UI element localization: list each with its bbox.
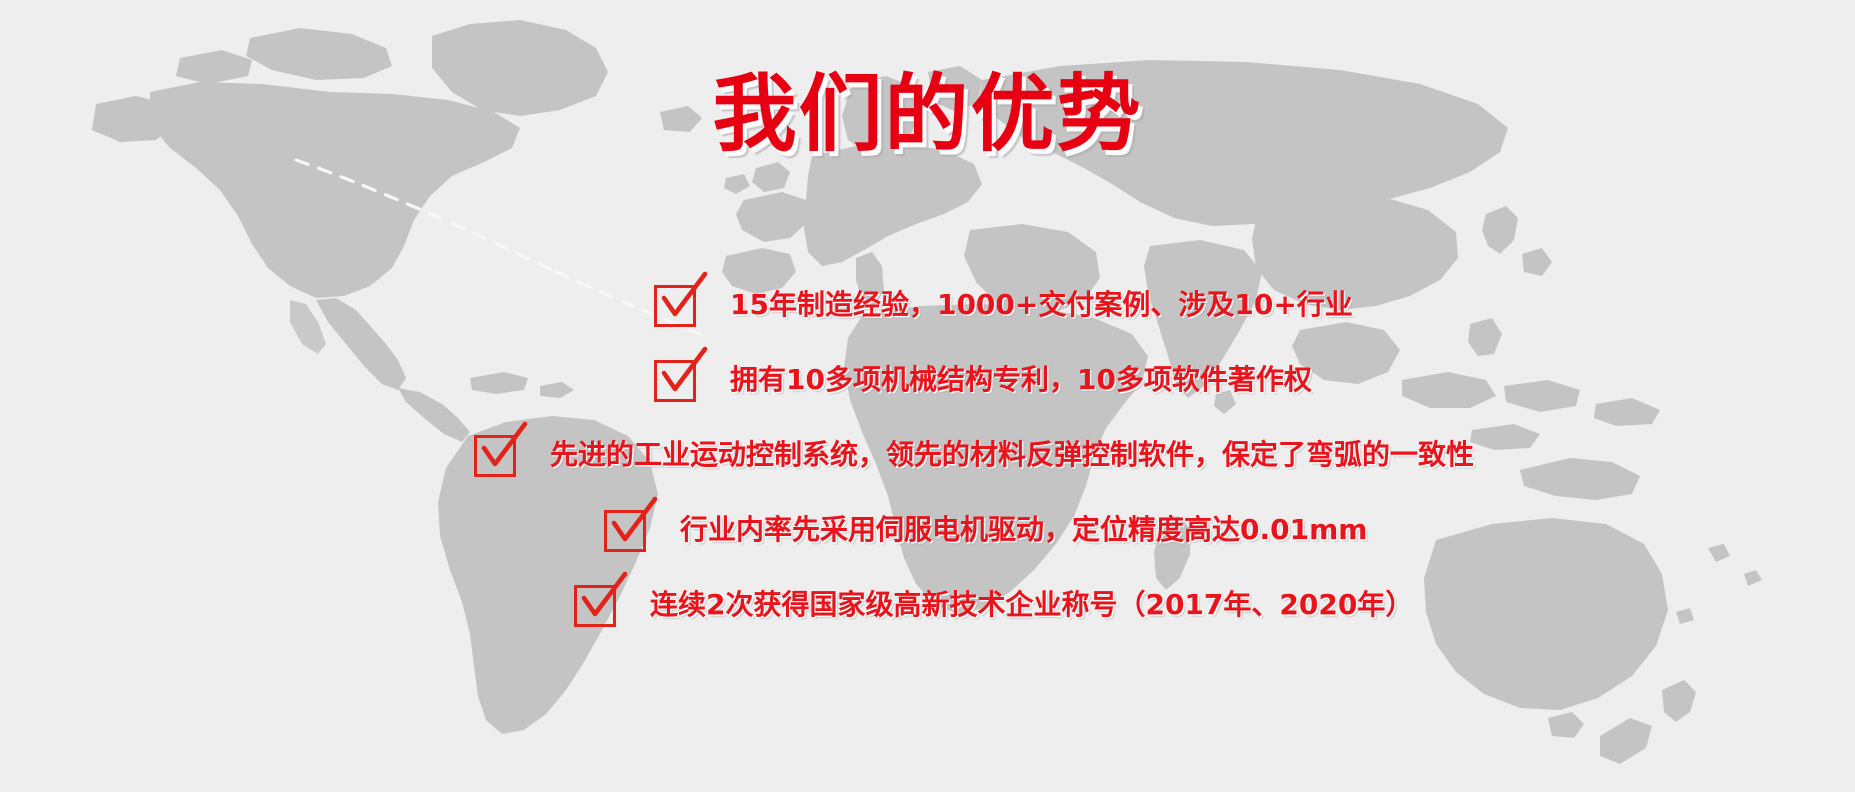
title-container: 我们的优势: [0, 72, 1855, 156]
advantage-text: 拥有10多项机械结构专利，10多项软件著作权: [730, 365, 1312, 396]
checkbox-checked-icon: [604, 510, 646, 552]
banner-content: 我们的优势 15年制造经验，1000+交付案例、涉及10+行业 拥有10多项机械…: [0, 0, 1855, 792]
checkbox-checked-icon: [654, 360, 696, 402]
advantage-text: 连续2次获得国家级高新技术企业称号（2017年、2020年）: [650, 590, 1413, 621]
advantage-text: 行业内率先采用伺服电机驱动，定位精度高达0.01mm: [680, 515, 1367, 546]
list-item: 行业内率先采用伺服电机驱动，定位精度高达0.01mm: [0, 493, 1855, 568]
list-item: 先进的工业运动控制系统，领先的材料反弹控制软件，保定了弯弧的一致性: [0, 418, 1855, 493]
advantages-list: 15年制造经验，1000+交付案例、涉及10+行业 拥有10多项机械结构专利，1…: [0, 268, 1855, 643]
checkbox-checked-icon: [654, 285, 696, 327]
list-item: 连续2次获得国家级高新技术企业称号（2017年、2020年）: [0, 568, 1855, 643]
advantage-text: 15年制造经验，1000+交付案例、涉及10+行业: [730, 290, 1353, 321]
list-item: 拥有10多项机械结构专利，10多项软件著作权: [0, 343, 1855, 418]
advantages-banner: 我们的优势 15年制造经验，1000+交付案例、涉及10+行业 拥有10多项机械…: [0, 0, 1855, 792]
checkbox-checked-icon: [474, 435, 516, 477]
page-title: 我们的优势: [712, 72, 1142, 156]
list-item: 15年制造经验，1000+交付案例、涉及10+行业: [0, 268, 1855, 343]
advantage-text: 先进的工业运动控制系统，领先的材料反弹控制软件，保定了弯弧的一致性: [550, 440, 1474, 471]
checkbox-checked-icon: [574, 585, 616, 627]
